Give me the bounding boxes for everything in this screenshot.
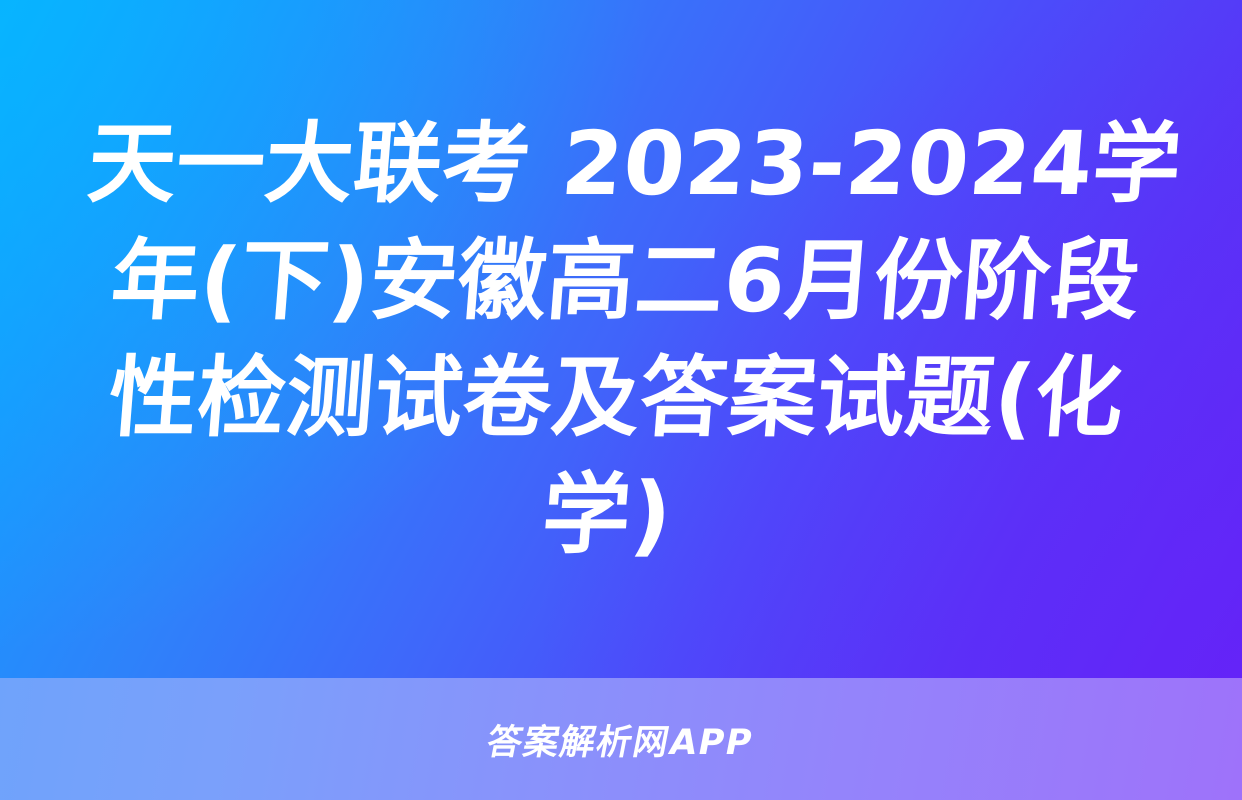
- brand-label: 答案解析网APP: [483, 714, 758, 765]
- poster-canvas: 天一大联考 2023-2024学年(下)安徽高二6月份阶段性检测试卷及答案试题(…: [0, 0, 1242, 800]
- footer-brand-band: 答案解析网APP: [0, 678, 1242, 800]
- hero-gradient-panel: 天一大联考 2023-2024学年(下)安徽高二6月份阶段性检测试卷及答案试题(…: [0, 0, 1242, 678]
- title-container: 天一大联考 2023-2024学年(下)安徽高二6月份阶段性检测试卷及答案试题(…: [0, 0, 1242, 678]
- page-title: 天一大联考 2023-2024学年(下)安徽高二6月份阶段性检测试卷及答案试题(…: [48, 105, 1195, 573]
